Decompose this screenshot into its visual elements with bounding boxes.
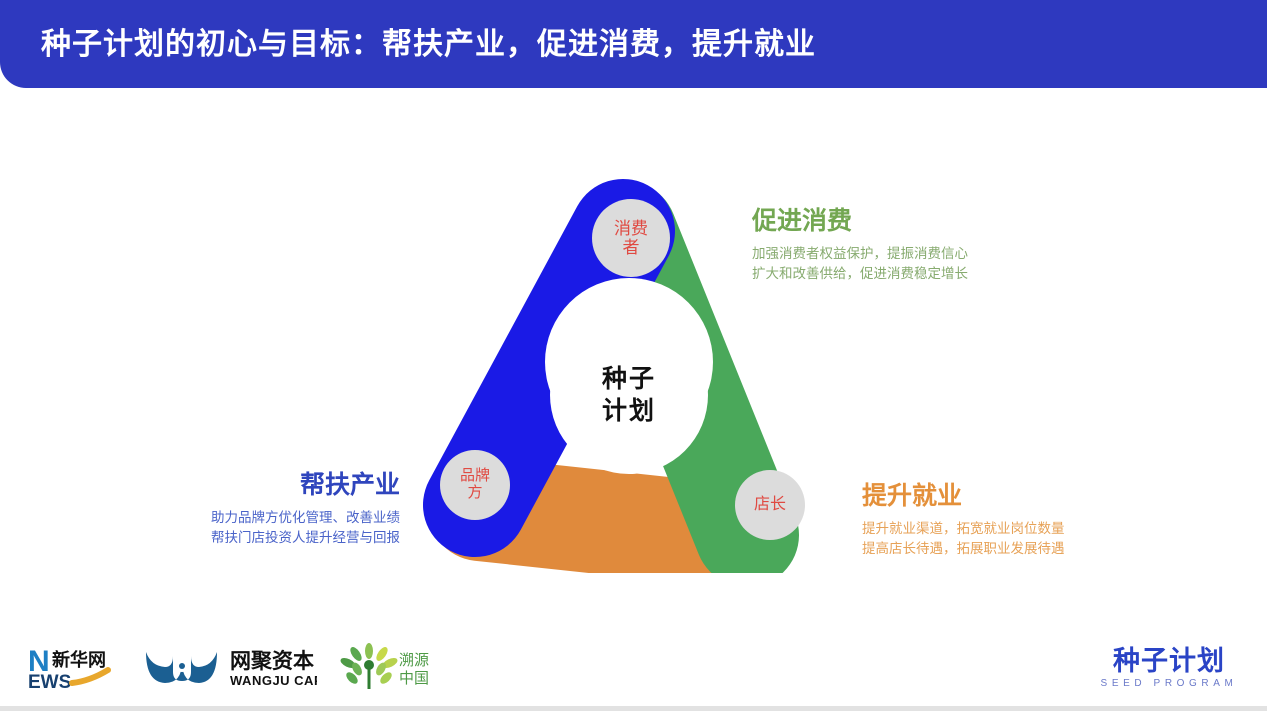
page-title: 种子计划的初心与目标：帮扶产业，促进消费，提升就业 [41,19,816,63]
label-support-industry-title: 帮扶产业 [0,465,400,501]
node-store-manager[interactable]: 店长 [735,470,805,540]
suyuan-cn-line2: 中国 [399,670,429,687]
node-brand-line2: 方 [467,485,482,502]
logo-seed-program[interactable]: 种子计划 SEED PROGRAM [1099,647,1239,689]
label-promote-consumption-title: 促进消费 [752,201,968,237]
label-boost-employment-line2: 提高店长待遇，拓展职业发展待遇 [862,539,1065,559]
node-consumer[interactable]: 消费 者 [592,199,670,277]
label-boost-employment: 提升就业 提升就业渠道，拓宽就业岗位数量 提高店长待遇，拓展职业发展待遇 [862,476,1065,558]
seed-program-cn: 种子计划 [1099,647,1239,675]
footer: N EWS 新华网 网聚资本 WANGJU CAPITAL [0,633,1267,719]
diagram-stage: 消费 者 品牌 方 店长 种子 计划 促进消费 加强消费者权益保护，提振消费信心… [0,88,1267,633]
xinhua-news-icon: N EWS 新华网 [28,641,120,693]
suyuan-china-icon: 溯源 中国 [339,641,434,693]
node-brand[interactable]: 品牌 方 [440,450,510,520]
label-support-industry-line2: 帮扶门店投资人提升经营与回报 [0,528,400,548]
center-line1: 种子 [602,363,656,396]
label-promote-consumption-line1: 加强消费者权益保护，提振消费信心 [752,244,968,264]
suyuan-tree-mark [339,643,399,689]
xinhua-ews-letters: EWS [28,672,71,693]
node-store-manager-line1: 店长 [754,496,786,514]
wangju-en-text: WANGJU CAPITAL [230,673,317,688]
seed-program-en: SEED PROGRAM [1099,678,1239,689]
wangju-cn-text: 网聚资本 [230,650,314,673]
label-support-industry-line1: 助力品牌方优化管理、改善业绩 [0,508,400,528]
node-consumer-line2: 者 [623,238,640,257]
label-boost-employment-title: 提升就业 [862,476,1065,512]
xinhua-swoosh [72,670,108,683]
logo-xinhua-news[interactable]: N EWS 新华网 [28,641,120,693]
center-line2: 计划 [602,395,656,428]
node-brand-line1: 品牌 [460,468,490,485]
suyuan-cn-line1: 溯源 [399,652,429,669]
label-promote-consumption: 促进消费 加强消费者权益保护，提振消费信心 扩大和改善供给，促进消费稳定增长 [752,201,968,283]
footer-divider [0,706,1267,711]
header-banner: 种子计划的初心与目标：帮扶产业，促进消费，提升就业 [0,0,1267,88]
label-support-industry: 帮扶产业 助力品牌方优化管理、改善业绩 帮扶门店投资人提升经营与回报 [0,465,400,547]
label-promote-consumption-line2: 扩大和改善供给，促进消费稳定增长 [752,264,968,284]
logo-wangju-capital[interactable]: 网聚资本 WANGJU CAPITAL [142,642,317,692]
logo-suyuan-china[interactable]: 溯源 中国 [339,641,434,693]
center-seed-program[interactable]: 种子 计划 [550,316,708,474]
node-consumer-line1: 消费 [614,219,648,238]
label-boost-employment-line1: 提升就业渠道，拓宽就业岗位数量 [862,519,1065,539]
xinhua-cn-text: 新华网 [52,649,106,670]
wangju-capital-icon: 网聚资本 WANGJU CAPITAL [142,642,317,692]
partner-logo-row: N EWS 新华网 网聚资本 WANGJU CAPITAL [28,641,434,693]
